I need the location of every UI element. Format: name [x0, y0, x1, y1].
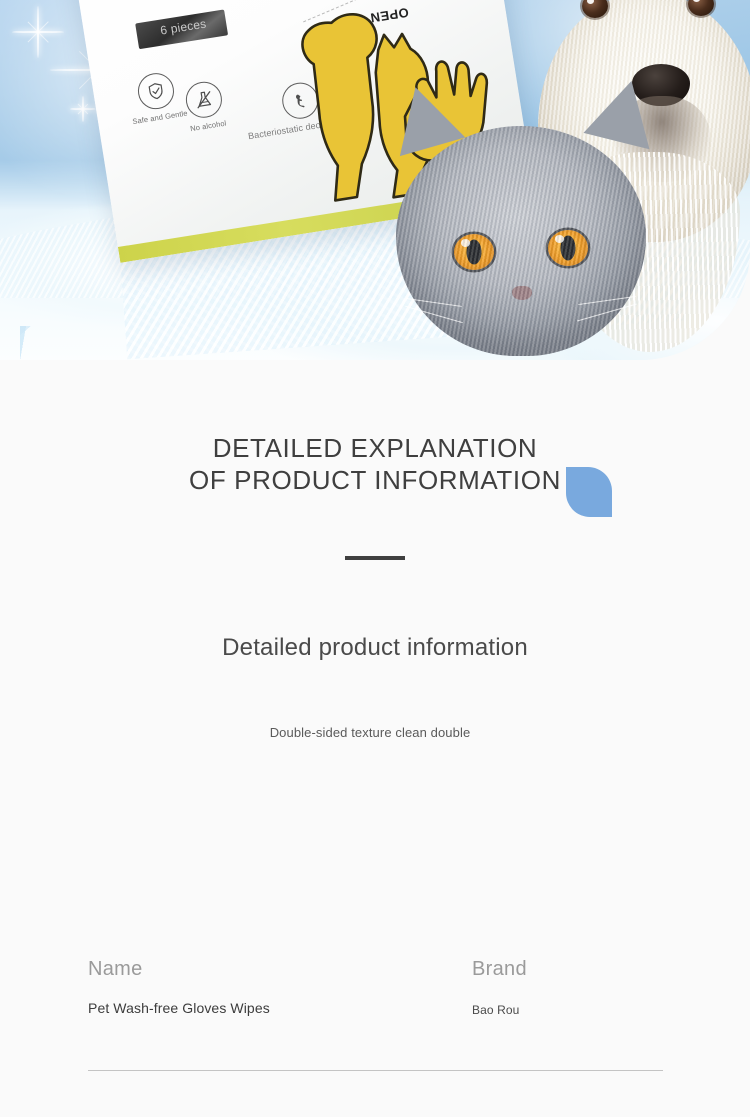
spec-value: Bao Rou — [472, 1003, 527, 1017]
sparkle-icon — [12, 6, 64, 58]
detail-caption: Double-sided texture clean double — [0, 725, 740, 740]
headline-line-1: DETAILED EXPLANATION — [189, 432, 561, 464]
cat-whisker — [578, 296, 636, 305]
no-alcohol-flask-icon — [194, 89, 215, 110]
detail-subheading: Detailed product information — [0, 634, 750, 662]
leaf-icon — [566, 467, 612, 517]
spec-value: Pet Wash-free Gloves Wipes — [88, 1000, 270, 1016]
badge-safe-and-gentle: Safe and Gentle — [126, 69, 189, 126]
spec-column-name: Name Pet Wash-free Gloves Wipes — [88, 958, 270, 1016]
shield-check-icon — [147, 82, 164, 101]
badge-no-alcohol: No alcohol — [183, 79, 227, 133]
cat-head — [396, 126, 646, 356]
page-title: DETAILED EXPLANATION OF PRODUCT INFORMAT… — [183, 432, 567, 496]
spec-column-brand: Brand Bao Rou — [472, 958, 527, 1017]
cat-whisker — [406, 298, 462, 307]
section-headline-block: DETAILED EXPLANATION OF PRODUCT INFORMAT… — [0, 432, 750, 496]
product-hero-banner: 6 pieces OPEN Safe and Gentle — [0, 0, 750, 360]
badge-caption: Safe and Gentle — [132, 109, 188, 127]
cat-eye-right — [548, 230, 588, 266]
headline-underline-rule — [345, 556, 405, 560]
spec-label: Name — [88, 958, 270, 981]
cat-whisker — [577, 303, 637, 321]
spec-label: Brand — [472, 958, 527, 981]
cat-whisker — [405, 306, 463, 324]
sparkle-icon — [70, 96, 96, 122]
badge-ring — [184, 79, 225, 120]
cat-photo — [372, 70, 672, 360]
headline-line-2: OF PRODUCT INFORMATION — [189, 464, 561, 496]
cat-ear-right — [584, 73, 665, 150]
spec-divider — [88, 1070, 663, 1071]
cat-nose — [512, 286, 532, 300]
cat-eye-left — [454, 234, 494, 270]
badge-ring — [135, 71, 176, 112]
badge-caption: No alcohol — [190, 119, 227, 134]
